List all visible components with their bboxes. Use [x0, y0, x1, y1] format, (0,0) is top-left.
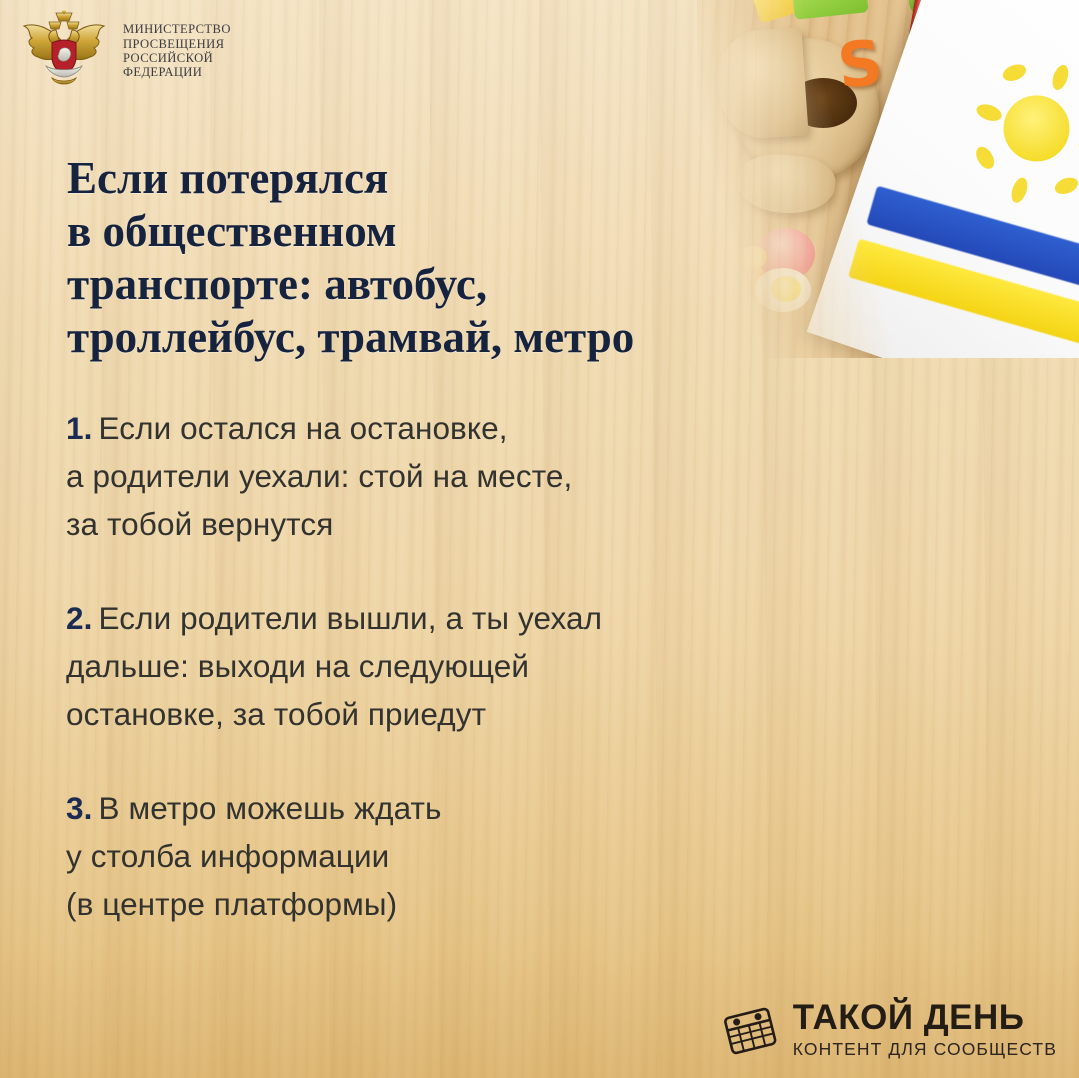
sun-ray-icon [1001, 61, 1029, 84]
sun-ray-icon [973, 144, 998, 172]
brand-text: ТАКОЙ ДЕНЬ КОНТЕНТ ДЛЯ СООБЩЕСТВ [793, 1000, 1057, 1060]
tip-line-3: (в центре платформы) [66, 886, 397, 922]
headline-line-4: троллейбус, трамвай, метро [67, 311, 827, 364]
tip-number: 2. [66, 600, 92, 636]
ministry-name: МИНИСТЕРСТВО ПРОСВЕЩЕНИЯ РОССИЙСКОЙ ФЕДЕ… [123, 22, 231, 80]
tip-text: 3.В метро можешь ждать у столба информац… [66, 784, 856, 928]
sun-drawing-icon [995, 86, 1079, 170]
tip-line-3: остановке, за тобой приедут [66, 696, 486, 732]
tips-list: 1.Если остался на остановке, а родители … [66, 404, 856, 974]
russian-double-headed-eagle-emblem-icon [16, 10, 112, 92]
brand-subtitle: КОНТЕНТ ДЛЯ СООБЩЕСТВ [793, 1038, 1057, 1060]
tip-line-2: а родители уехали: стой на месте, [66, 458, 572, 494]
tip-line-1: Если остался на остановке, [98, 410, 507, 446]
page-title: Если потерялся в общественном транспорте… [67, 152, 827, 364]
tip-text: 1.Если остался на остановке, а родители … [66, 404, 856, 548]
tip-number: 3. [66, 790, 92, 826]
orange-letter-s-icon: S [835, 33, 897, 97]
tear-off-calendar-icon [721, 1001, 779, 1059]
headline-line-1: Если потерялся [67, 152, 827, 205]
headline-line-2: в общественном [67, 205, 827, 258]
tip-line-2: дальше: выходи на следующей [66, 648, 529, 684]
tip-line-1: В метро можешь ждать [98, 790, 441, 826]
ministry-line-3: РОССИЙСКОЙ [123, 51, 231, 65]
list-item: 2.Если родители вышли, а ты уехал дальше… [66, 594, 856, 738]
sun-ray-icon [1009, 176, 1031, 205]
sun-ray-icon [1053, 175, 1079, 198]
ministry-lockup: МИНИСТЕРСТВО ПРОСВЕЩЕНИЯ РОССИЙСКОЙ ФЕДЕ… [16, 10, 231, 92]
ministry-line-2: ПРОСВЕЩЕНИЯ [123, 37, 231, 51]
ministry-line-1: МИНИСТЕРСТВО [123, 22, 231, 36]
tip-number: 1. [66, 410, 92, 446]
list-item: 3.В метро можешь ждать у столба информац… [66, 784, 856, 928]
tip-text: 2.Если родители вышли, а ты уехал дальше… [66, 594, 856, 738]
tip-line-2: у столба информации [66, 838, 389, 874]
headline-line-3: транспорте: автобус, [67, 258, 827, 311]
tip-line-3: за тобой вернутся [66, 506, 333, 542]
brand-logo: ТАКОЙ ДЕНЬ КОНТЕНТ ДЛЯ СООБЩЕСТВ [721, 1000, 1057, 1060]
sun-ray-icon [1050, 63, 1072, 92]
sun-ray-icon [974, 101, 1003, 124]
brand-title: ТАКОЙ ДЕНЬ [793, 1000, 1025, 1036]
poster-canvas: S [0, 0, 1079, 1078]
tip-line-1: Если родители вышли, а ты уехал [98, 600, 602, 636]
list-item: 1.Если остался на остановке, а родители … [66, 404, 856, 548]
ministry-line-4: ФЕДЕРАЦИИ [123, 65, 231, 79]
